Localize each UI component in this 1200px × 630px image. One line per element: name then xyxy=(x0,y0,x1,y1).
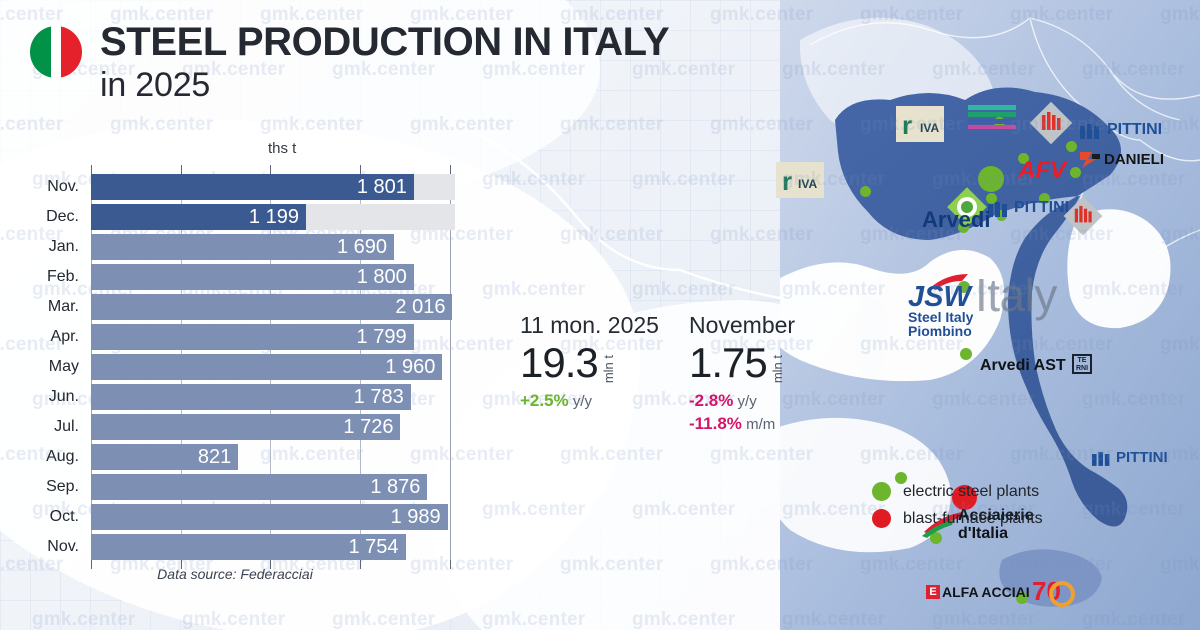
jsw-label: JSW xyxy=(908,282,971,312)
chart-bar[interactable]: 1 726 xyxy=(91,414,400,440)
riva-label-west: IVA xyxy=(798,178,817,191)
chart-bar-value: 821 xyxy=(198,444,231,470)
page-subtitle: in 2025 xyxy=(100,68,669,103)
watermark-text: gmk.center xyxy=(482,499,585,521)
chart-bar-row: Apr.1 799 xyxy=(0,324,480,350)
riva-mark-west: r xyxy=(782,166,792,197)
page-header: STEEL PRODUCTION IN ITALY in 2025 xyxy=(30,22,669,103)
flag-green-band xyxy=(30,26,51,78)
plant-dot-electric xyxy=(960,348,972,360)
chart-bar-value: 1 801 xyxy=(357,174,407,200)
stat-delta-value: +2.5% xyxy=(520,391,569,410)
pittini-label-south: PITTINI xyxy=(1116,450,1168,466)
chart-bar[interactable]: 2 016 xyxy=(91,294,452,320)
pittini-bars-south xyxy=(1092,452,1114,467)
alfa-acciai-label: ALFA ACCIAI xyxy=(942,585,1030,600)
chart-category-label: Nov. xyxy=(0,174,83,200)
plant-dot-electric xyxy=(1070,167,1081,178)
stat-value-row: 1.75mln t xyxy=(689,343,795,383)
stat-delta-period: m/m xyxy=(742,416,775,433)
stat-delta-yoy: +2.5% y/y xyxy=(520,391,659,411)
chart-bar-row: May1 960 xyxy=(0,354,480,380)
chart-category-label: Aug. xyxy=(0,444,83,470)
chart-bar-value: 1 199 xyxy=(249,204,299,230)
chart-bar-value: 1 754 xyxy=(348,534,398,560)
chart-bar-row: Jan.1 690 xyxy=(0,234,480,260)
chart-bar-row: Mar.2 016 xyxy=(0,294,480,320)
chart-category-label: Nov. xyxy=(0,534,83,560)
italy-flag-icon xyxy=(30,26,82,78)
legend-label: electric steel plants xyxy=(903,483,1039,501)
riva-mark-north: r xyxy=(902,110,912,141)
stat-unit: mln t xyxy=(771,352,784,383)
watermark-text: gmk.center xyxy=(560,114,663,136)
danieli-mark xyxy=(1080,152,1102,168)
pittini-label-lombardy: PITTINI xyxy=(1014,200,1069,217)
chart-bar-value: 1 876 xyxy=(370,474,420,500)
watermark-text: gmk.center xyxy=(632,169,735,191)
marcegaglia-logo-north xyxy=(1028,100,1074,146)
legend-item-blast-furnace-plants: blast-furnace plants xyxy=(872,509,1043,528)
chart-axis-tick xyxy=(91,165,92,174)
title-block: STEEL PRODUCTION IN ITALY in 2025 xyxy=(100,22,669,103)
watermark-text: gmk.center xyxy=(0,114,63,136)
stat-heading: November xyxy=(689,312,795,339)
chart-bar[interactable]: 1 754 xyxy=(91,534,406,560)
chart-bar-row: Feb.1 800 xyxy=(0,264,480,290)
stat-columns: 11 mon. 202519.3mln t+2.5% y/yNovember1.… xyxy=(498,312,828,434)
chart-unit-label: ths t xyxy=(268,140,296,157)
chart-category-label: Oct. xyxy=(0,504,83,530)
chart-category-label: May xyxy=(0,354,83,380)
chart-bar-row: Sep.1 876 xyxy=(0,474,480,500)
chart-category-label: Jan. xyxy=(0,234,83,260)
chart-bar[interactable]: 821 xyxy=(91,444,238,470)
watermark-text: gmk.center xyxy=(632,609,735,630)
watermark-text: gmk.center xyxy=(560,444,663,466)
chart-category-label: Jun. xyxy=(0,384,83,410)
electric-steel-plants-dot-icon xyxy=(872,482,891,501)
feralpi-logo xyxy=(968,104,1016,130)
stat-value-row: 19.3mln t xyxy=(520,343,659,383)
chart-bar-row: Jun.1 783 xyxy=(0,384,480,410)
chart-category-label: Jul. xyxy=(0,414,83,440)
chart-bar[interactable]: 1 783 xyxy=(91,384,411,410)
pittini-label-north: PITTINI xyxy=(1107,122,1162,139)
chart-bar-row: Dec.1 199 xyxy=(0,204,480,230)
stat-unit: mln t xyxy=(602,352,615,383)
afv-label: AFV xyxy=(1018,158,1066,183)
stat-heading: 11 mon. 2025 xyxy=(520,312,659,339)
chart-bar-value: 1 726 xyxy=(343,414,393,440)
chart-bar-row: Oct.1 989 xyxy=(0,504,480,530)
chart-bar-row: Nov.1 754 xyxy=(0,534,480,560)
chart-plot-area: Nov.1 801Dec.1 199Jan.1 690Feb.1 800Mar.… xyxy=(0,162,480,552)
stat-delta-value: -11.8% xyxy=(689,414,742,433)
chart-axis-tick xyxy=(360,165,361,174)
country-label: Italy xyxy=(975,268,1057,322)
chart-bar-row: Aug.821 xyxy=(0,444,480,470)
legend-item-electric-steel-plants: electric steel plants xyxy=(872,482,1043,501)
watermark-text: gmk.center xyxy=(110,114,213,136)
chart-bar[interactable]: 1 199 xyxy=(91,204,306,230)
chart-category-label: Dec. xyxy=(0,204,83,230)
plant-dot-electric xyxy=(860,186,871,197)
chart-bar-value: 1 783 xyxy=(354,384,404,410)
chart-bar[interactable]: 1 876 xyxy=(91,474,427,500)
map-legend: electric steel plantsblast-furnace plant… xyxy=(872,482,1043,536)
jsw-sub-label-2: Piombino xyxy=(908,324,972,339)
chart-category-label: Sep. xyxy=(0,474,83,500)
flag-red-band xyxy=(61,26,82,78)
chart-bar[interactable]: 1 960 xyxy=(91,354,442,380)
watermark-text: gmk.center xyxy=(482,609,585,630)
chart-bar-value: 2 016 xyxy=(395,294,445,320)
stat-delta-value: -2.8% xyxy=(689,391,733,410)
watermark-text: gmk.center xyxy=(632,499,735,521)
watermark-text: gmk.center xyxy=(410,114,513,136)
production-bar-chart: ths t Nov.1 801Dec.1 199Jan.1 690Feb.1 8… xyxy=(0,140,480,610)
watermark-text: gmk.center xyxy=(560,554,663,576)
chart-bar-row: Nov.1 801 xyxy=(0,174,480,200)
chart-bar-value: 1 690 xyxy=(337,234,387,260)
stat-delta-mom: -11.8% m/m xyxy=(689,414,795,434)
chart-bar[interactable]: 1 690 xyxy=(91,234,394,260)
stat-value: 1.75 xyxy=(689,343,767,383)
stat-delta-period: y/y xyxy=(733,393,756,410)
chart-bar[interactable]: 1 801 xyxy=(91,174,414,200)
chart-bar[interactable]: 1 799 xyxy=(91,324,414,350)
arvedi-ast-label: Arvedi AST xyxy=(980,358,1066,375)
watermark-text: gmk.center xyxy=(182,609,285,630)
summary-stats: 11 mon. 202519.3mln t+2.5% y/yNovember1.… xyxy=(498,312,828,434)
chart-bar-value: 1 989 xyxy=(391,504,441,530)
chart-bar[interactable]: 1 989 xyxy=(91,504,448,530)
alfa-acciai-ring xyxy=(1048,580,1076,608)
stat-delta-period: y/y xyxy=(569,393,592,410)
chart-bar-row: Jul.1 726 xyxy=(0,414,480,440)
chart-axis-tick xyxy=(450,165,451,174)
stat-value: 19.3 xyxy=(520,343,598,383)
riva-label-north: IVA xyxy=(920,122,939,135)
stat-block-november: November1.75mln t-2.8% y/y-11.8% m/m xyxy=(685,312,795,434)
pittini-bars-lombardy xyxy=(988,202,1012,218)
watermark-text: gmk.center xyxy=(482,279,585,301)
chart-category-label: Apr. xyxy=(0,324,83,350)
watermark-text: gmk.center xyxy=(260,114,363,136)
chart-axis-tick xyxy=(270,165,271,174)
page-title: STEEL PRODUCTION IN ITALY xyxy=(100,22,669,64)
infographic-canvas: r IVA r IVA xyxy=(0,0,1200,630)
chart-source-note: Data source: Federacciai xyxy=(0,566,470,582)
chart-bar[interactable]: 1 800 xyxy=(91,264,414,290)
chart-category-label: Mar. xyxy=(0,294,83,320)
pittini-bars-north xyxy=(1080,124,1104,140)
alfa-acciai-mark: Ε xyxy=(926,585,940,599)
stat-block-eleven-month-2025: 11 mon. 202519.3mln t+2.5% y/y xyxy=(498,312,659,434)
legend-label: blast-furnace plants xyxy=(903,510,1043,528)
watermark-text: gmk.center xyxy=(32,609,135,630)
watermark-text: gmk.center xyxy=(560,224,663,246)
chart-bar-value: 1 960 xyxy=(385,354,435,380)
arvedi-label: Arvedi xyxy=(922,208,990,231)
watermark-text: gmk.center xyxy=(632,279,735,301)
blast-furnace-plants-dot-icon xyxy=(872,509,891,528)
chart-bar-value: 1 799 xyxy=(357,324,407,350)
watermark-text: gmk.center xyxy=(332,609,435,630)
stat-delta-yoy: -2.8% y/y xyxy=(689,391,795,411)
watermark-text: gmk.center xyxy=(482,169,585,191)
terni-logo: TERNI xyxy=(1072,354,1092,374)
danieli-label: DANIELI xyxy=(1104,152,1164,168)
chart-bar-value: 1 800 xyxy=(357,264,407,290)
chart-axis-tick xyxy=(181,165,182,174)
chart-category-label: Feb. xyxy=(0,264,83,290)
